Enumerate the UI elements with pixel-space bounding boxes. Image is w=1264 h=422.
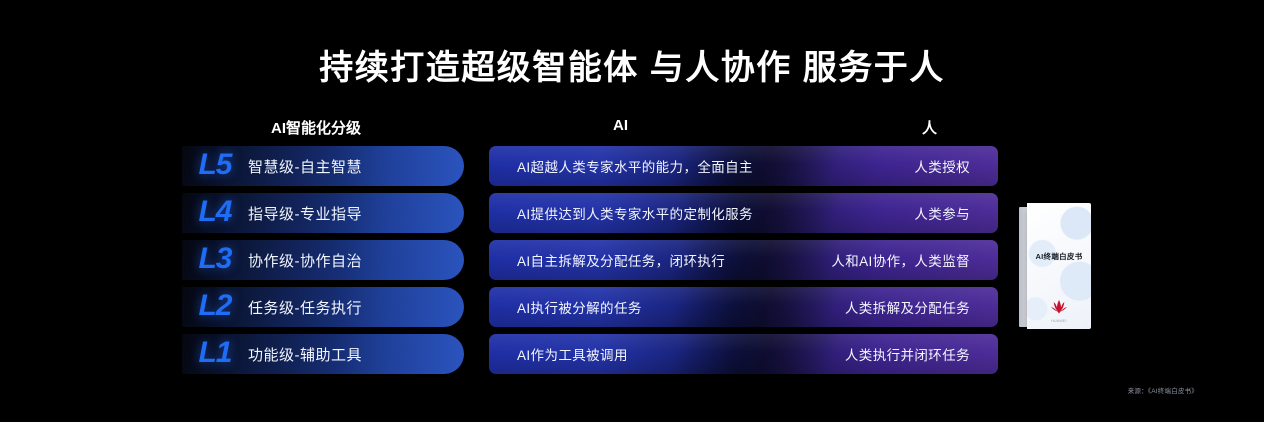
level-tag: L5	[182, 150, 248, 182]
human-role-text: 人和AI协作，人类监督	[831, 250, 970, 270]
book-title: AI终端白皮书	[1027, 251, 1091, 262]
human-role-text: 人类拆解及分配任务	[845, 297, 970, 317]
column-header-levels: AI智能化分级	[271, 117, 361, 138]
whitepaper-book: AI终端白皮书 HUAWEI	[1019, 203, 1091, 329]
page-title: 持续打造超级智能体 与人协作 服务于人	[0, 40, 1264, 89]
ai-capability-text: AI执行被分解的任务	[517, 297, 642, 317]
ai-capability-text: AI超越人类专家水平的能力，全面自主	[517, 156, 753, 176]
description-row-l5[interactable]: AI超越人类专家水平的能力，全面自主 人类授权	[489, 146, 998, 186]
description-row-l3[interactable]: AI自主拆解及分配任务，闭环执行 人和AI协作，人类监督	[489, 240, 998, 280]
ai-capability-text: AI自主拆解及分配任务，闭环执行	[517, 250, 725, 270]
level-label: 任务级-任务执行	[248, 297, 362, 318]
level-label: 协作级-协作自治	[248, 250, 362, 271]
level-list: L5 智慧级-自主智慧 L4 指导级-专业指导 L3 协作级-协作自治 L2 任…	[182, 146, 464, 381]
human-role-text: 人类授权	[914, 156, 970, 176]
level-label: 智慧级-自主智慧	[248, 156, 362, 177]
ai-capability-text: AI提供达到人类专家水平的定制化服务	[517, 203, 753, 223]
level-row-l1[interactable]: L1 功能级-辅助工具	[182, 334, 464, 374]
level-row-l3[interactable]: L3 协作级-协作自治	[182, 240, 464, 280]
book-logo-subtext: HUAWEI	[1027, 319, 1091, 323]
level-label: 功能级-辅助工具	[248, 344, 362, 365]
description-list: AI超越人类专家水平的能力，全面自主 人类授权 AI提供达到人类专家水平的定制化…	[489, 146, 998, 381]
source-note: 来源：《AI终端白皮书》	[1128, 385, 1198, 395]
slide-root: 持续打造超级智能体 与人协作 服务于人 AI智能化分级 AI 人 L5 智慧级-…	[0, 0, 1264, 422]
level-tag: L2	[182, 291, 248, 323]
level-row-l4[interactable]: L4 指导级-专业指导	[182, 193, 464, 233]
level-tag: L4	[182, 197, 248, 229]
description-row-l4[interactable]: AI提供达到人类专家水平的定制化服务 人类参与	[489, 193, 998, 233]
level-row-l5[interactable]: L5 智慧级-自主智慧	[182, 146, 464, 186]
column-header-human: 人	[922, 117, 937, 138]
ai-capability-text: AI作为工具被调用	[517, 344, 628, 364]
human-role-text: 人类执行并闭环任务	[845, 344, 970, 364]
level-row-l2[interactable]: L2 任务级-任务执行	[182, 287, 464, 327]
level-tag: L1	[182, 338, 248, 370]
book-cover: AI终端白皮书 HUAWEI	[1027, 203, 1091, 329]
description-row-l1[interactable]: AI作为工具被调用 人类执行并闭环任务	[489, 334, 998, 374]
description-row-l2[interactable]: AI执行被分解的任务 人类拆解及分配任务	[489, 287, 998, 327]
level-label: 指导级-专业指导	[248, 203, 362, 224]
column-header-ai: AI	[613, 117, 628, 134]
human-role-text: 人类参与	[914, 203, 970, 223]
huawei-flower-icon	[1050, 299, 1068, 315]
level-tag: L3	[182, 244, 248, 276]
